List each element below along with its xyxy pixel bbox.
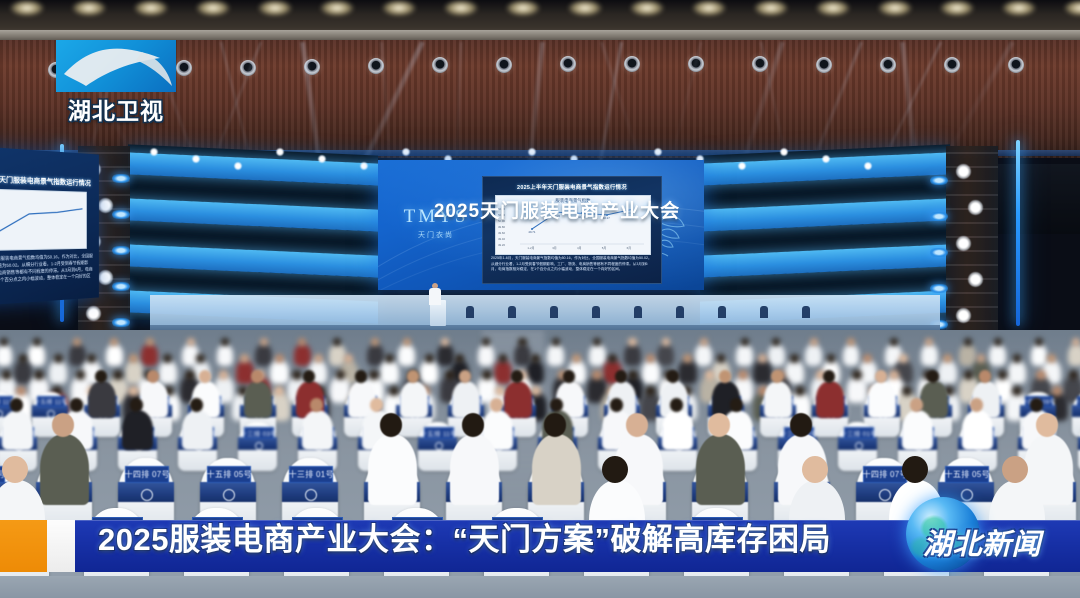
broadcast-frame: TMYS 天门衣尚 2025上半年天门服装电商景气指数运行情 <box>0 0 1080 598</box>
channel-logo-mark <box>56 40 176 92</box>
side-led-screen-left: 2025上半年天门服装电商景气指数运行情况 2025年1-6月，天门服装电商景气… <box>0 145 99 307</box>
blue-tube-light-right <box>1016 140 1020 326</box>
news-headline: 2025服装电商产业大会：“天门方案”破解高库存困局 <box>98 515 831 565</box>
slide-title: 2025上半年天门服装电商景气指数运行情况 <box>483 183 661 191</box>
program-brand-label: 湖北新闻 <box>923 521 1041 563</box>
bottom-letterbox-strip <box>0 576 1080 598</box>
aux-slide-chart <box>0 188 87 252</box>
channel-logo: 湖北卫视 <box>56 40 176 126</box>
presentation-slide: 2025上半年天门服装电商景气指数运行情况 服装电商景气指数 50.4050.2… <box>482 176 662 284</box>
lower-third-accent-block <box>0 520 47 572</box>
aux-slide-paragraph: 2025年1-6月，天门服装电商景气指数均值为50.16，作为对比，全国服装电商… <box>0 252 95 293</box>
lower-third-white-block <box>47 520 75 572</box>
aux-slide-title: 2025上半年天门服装电商景气指数运行情况 <box>0 173 97 189</box>
slide-paragraph: 2025年1-6月，天门服装电商景气指数均值为50.16，作为对比，全国服装电商… <box>491 256 653 273</box>
speaker-person <box>429 283 441 305</box>
sponsor-logo-subtitle: 天门衣尚 <box>390 230 482 240</box>
main-led-screen: TMYS 天门衣尚 2025上半年天门服装电商景气指数运行情 <box>378 160 704 290</box>
event-backdrop-title: 2025天门服装电商产业大会 <box>392 196 722 223</box>
channel-logo-text: 湖北卫视 <box>56 92 176 126</box>
stage-truss-right <box>946 146 998 336</box>
